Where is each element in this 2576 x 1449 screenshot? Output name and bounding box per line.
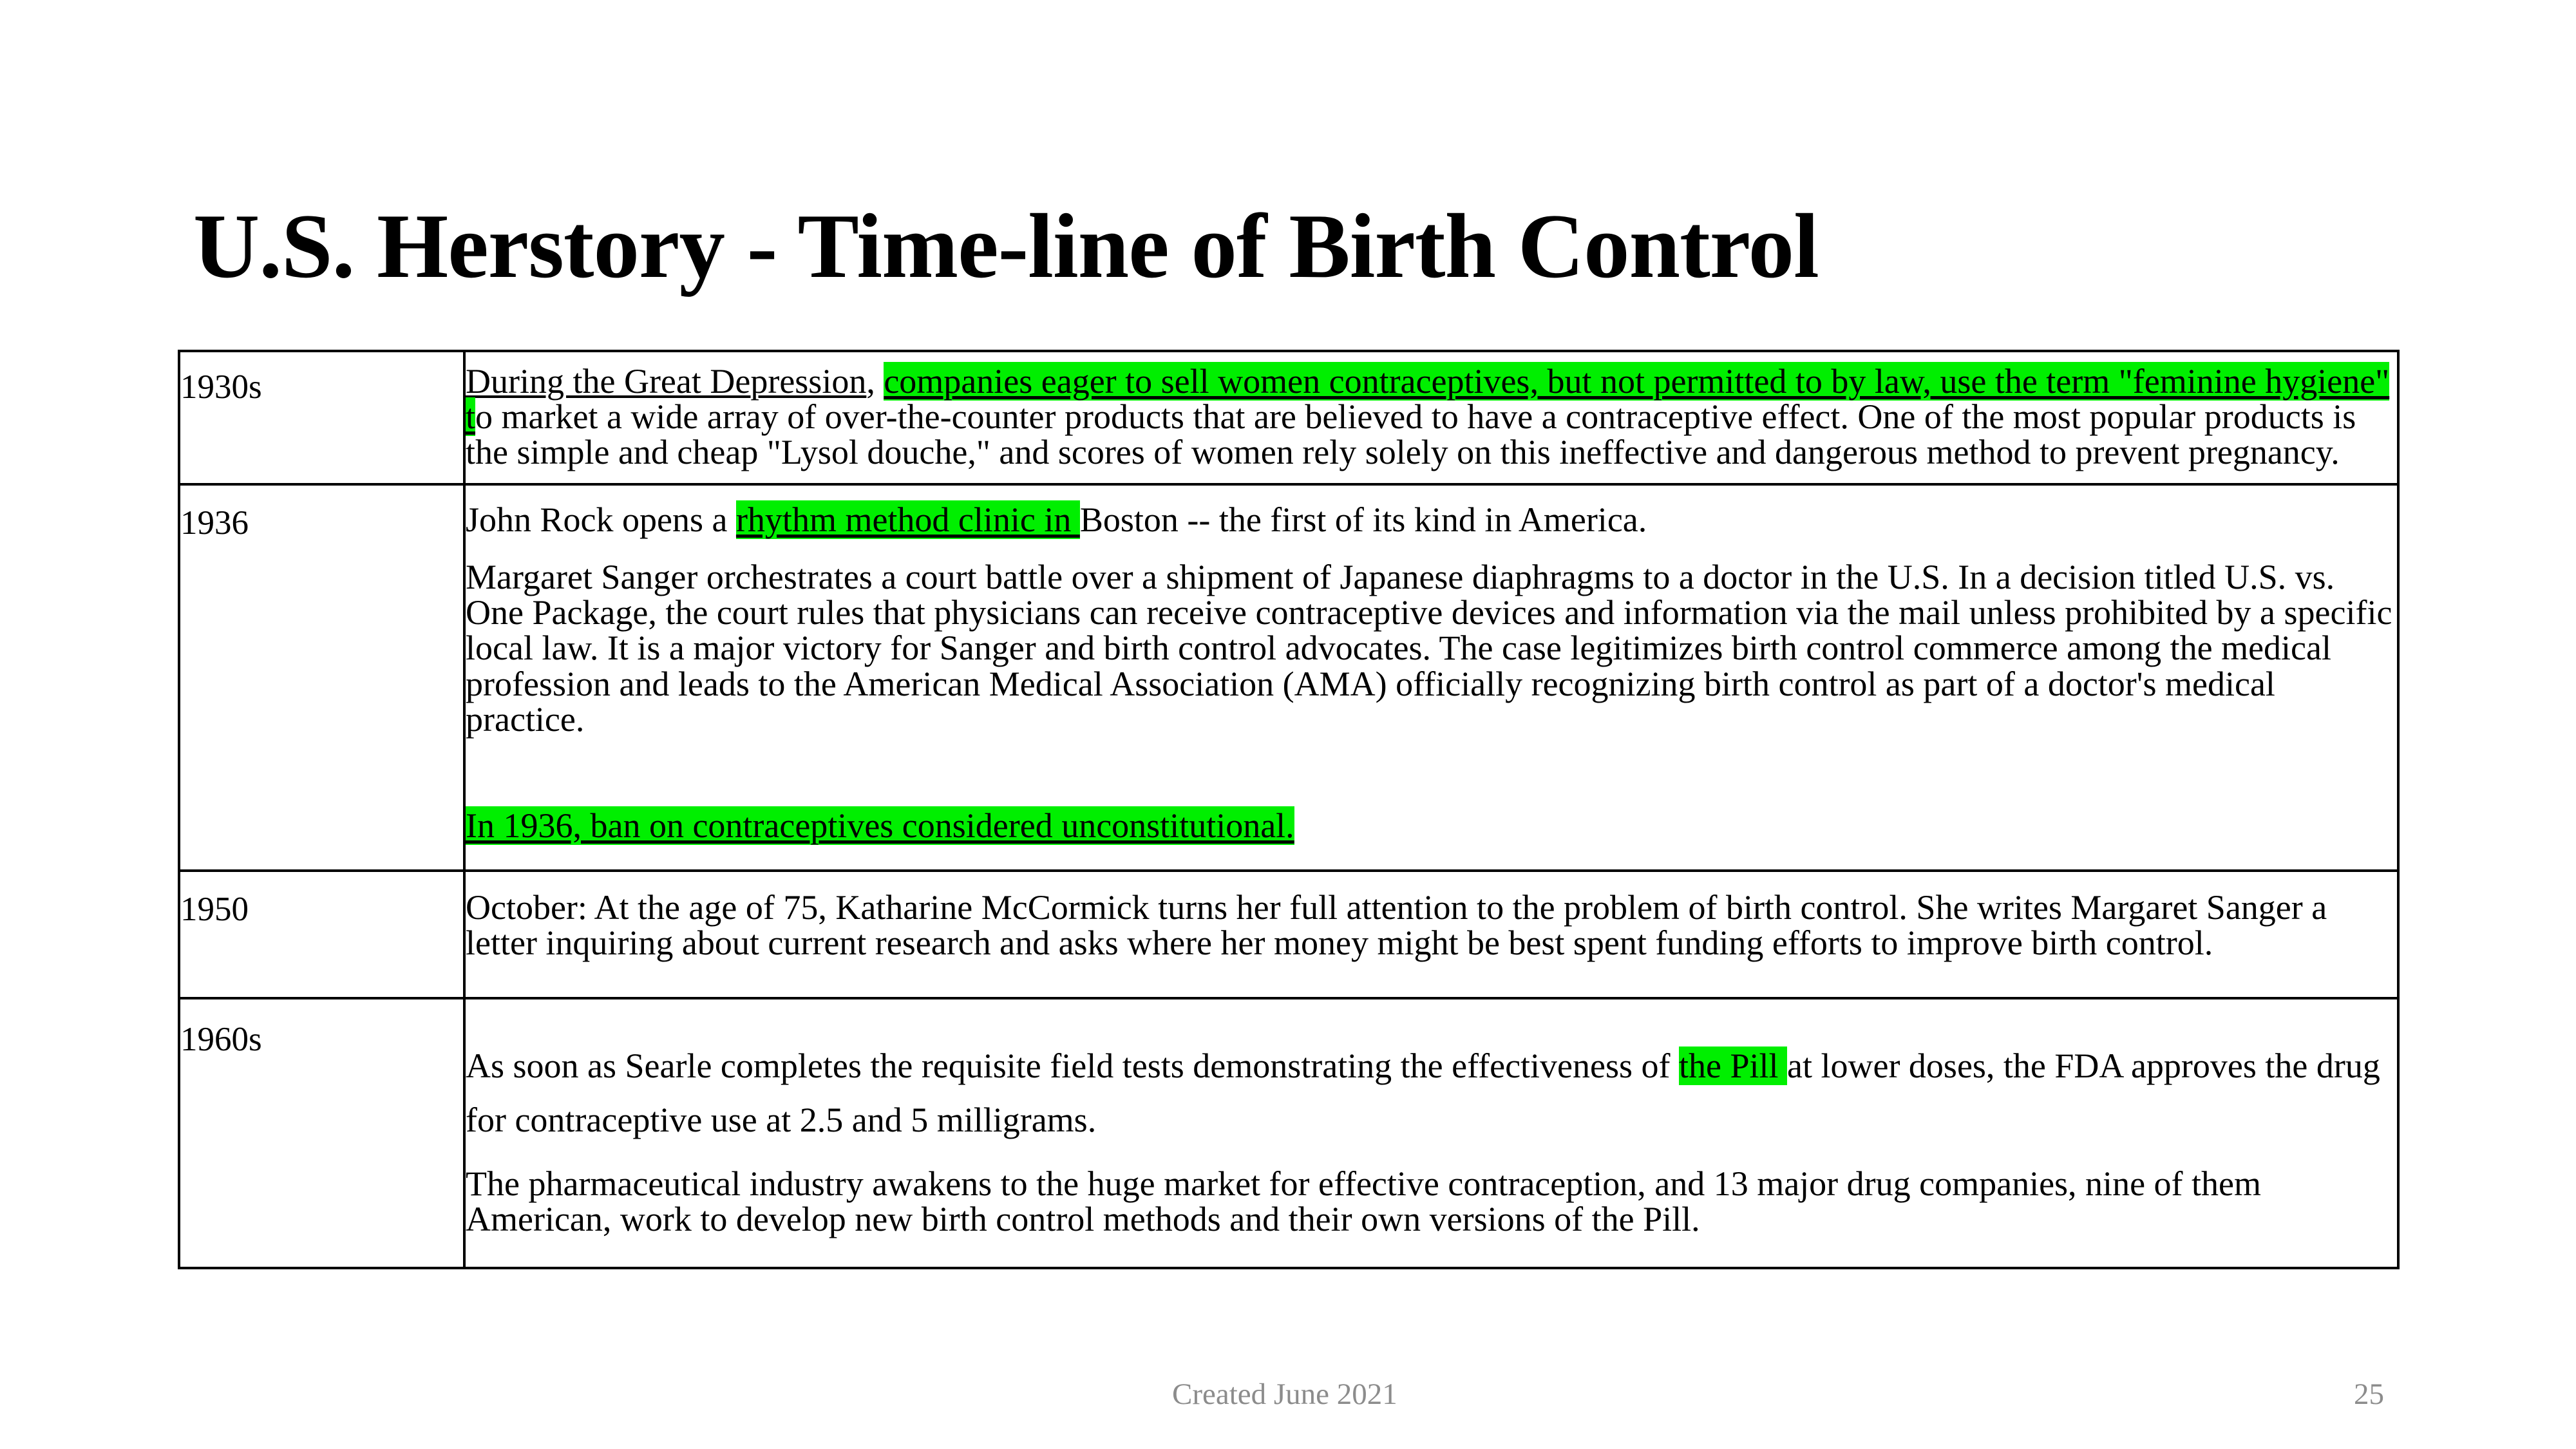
body-text: As soon as Searle completes the requisit…: [466, 1046, 1679, 1085]
highlighted-text: rhythm method clinic in: [736, 500, 1080, 539]
table-row: 1950 October: At the age of 75, Katharin…: [179, 871, 2398, 998]
timeline-table: 1930s During the Great Depression, compa…: [178, 350, 2400, 1269]
paragraph: Margaret Sanger orchestrates a court bat…: [466, 560, 2397, 737]
paragraph: October: At the age of 75, Katharine McC…: [466, 890, 2397, 961]
row-year-cell: 1936: [179, 484, 464, 871]
body-text: John Rock opens a: [466, 500, 736, 539]
row-event-cell: October: At the age of 75, Katharine McC…: [464, 871, 2398, 998]
row-event-cell: As soon as Searle completes the requisit…: [464, 998, 2398, 1269]
highlighted-text: In 1936, ban on contraceptives considere…: [466, 806, 1294, 845]
body-text: October: At the age of 75, Katharine McC…: [466, 888, 2327, 962]
highlighted-text: During the Great Depression: [466, 362, 866, 401]
row-event-cell: John Rock opens a rhythm method clinic i…: [464, 484, 2398, 871]
row-year-cell: 1960s: [179, 998, 464, 1269]
row-year-cell: 1930s: [179, 351, 464, 484]
table-row: 1936 John Rock opens a rhythm method cli…: [179, 484, 2398, 871]
body-text: Margaret Sanger orchestrates a court bat…: [466, 558, 2392, 738]
page-title: U.S. Herstory - Time-line of Birth Contr…: [193, 200, 2415, 292]
row-event-cell: During the Great Depression, companies e…: [464, 351, 2398, 484]
page-number: 25: [2354, 1377, 2384, 1412]
body-text: ,: [866, 362, 884, 401]
body-text: o market a wide array of over-the-counte…: [466, 397, 2356, 471]
body-text: Boston -- the first of its kind in Ameri…: [1080, 500, 1647, 539]
paragraph: John Rock opens a rhythm method clinic i…: [466, 502, 2397, 538]
paragraph: During the Great Depression, companies e…: [466, 364, 2397, 470]
row-year-cell: 1950: [179, 871, 464, 998]
highlighted-text: the Pill: [1679, 1046, 1787, 1085]
body-text: The pharmaceutical industry awakens to t…: [466, 1164, 2261, 1238]
paragraph: In 1936, ban on contraceptives considere…: [466, 808, 2397, 844]
footer-note: Created June 2021: [1172, 1377, 1397, 1412]
table-row: 1960s As soon as Searle completes the re…: [179, 998, 2398, 1269]
paragraph: The pharmaceutical industry awakens to t…: [466, 1166, 2397, 1237]
paragraph: As soon as Searle completes the requisit…: [466, 1039, 2397, 1147]
table-row: 1930s During the Great Depression, compa…: [179, 351, 2398, 484]
timeline-table-body: 1930s During the Great Depression, compa…: [179, 351, 2398, 1268]
